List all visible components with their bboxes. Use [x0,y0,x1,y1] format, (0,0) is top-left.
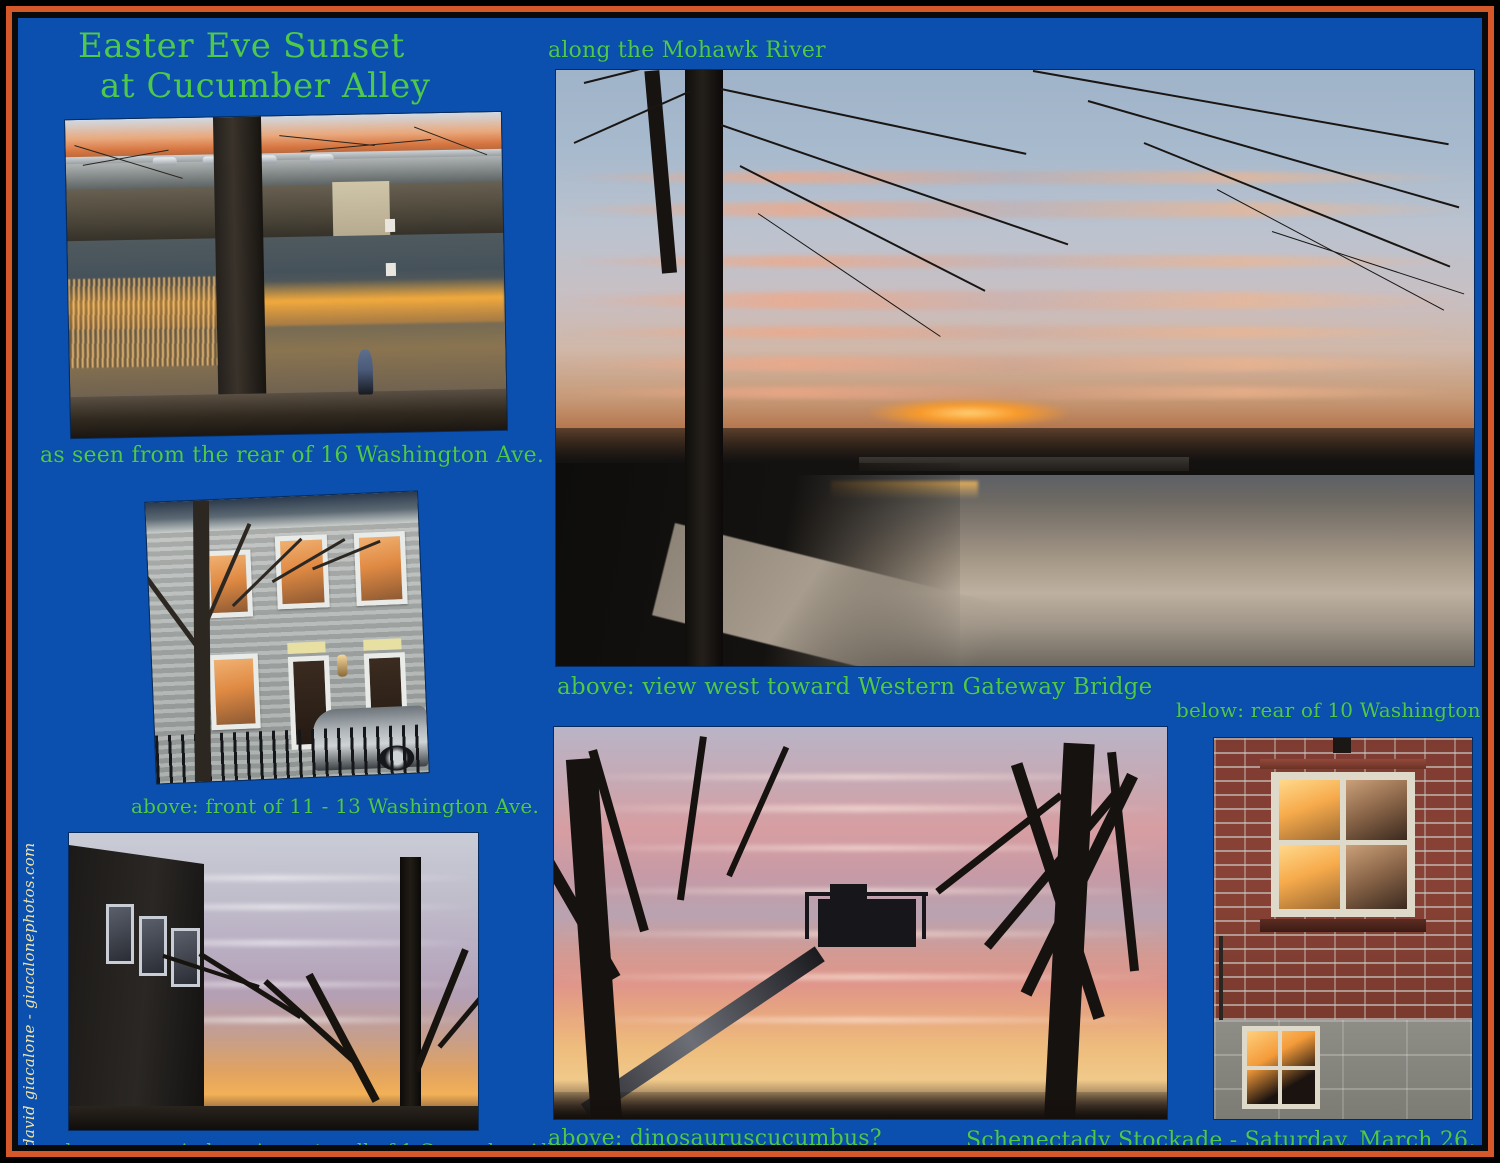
photo-east-wall [69,833,478,1130]
caption-footer: Schenectady Stockade - Saturday, March 2… [966,1128,1482,1145]
caption-view-west-gateway: above: view west toward Western Gateway … [557,674,1152,700]
photo-bucket-lift [554,727,1167,1119]
photographer-credit: david giacalone - giacalonephotos.com [20,848,38,1145]
caption-mohawk-river: along the Mohawk River [548,38,826,63]
caption-rear-16-washington: as seen from the rear of 16 Washington A… [40,443,544,468]
page-title: Easter Eve Sunset at Cucumber Alley [78,26,431,106]
caption-dinosauruscucumbus: above: dinosauruscucumbus? [548,1126,882,1145]
photo-collage-poster: Easter Eve Sunset at Cucumber Alley alon… [0,0,1500,1163]
photo-bridge-river [65,112,507,438]
title-line-1: Easter Eve Sunset [78,26,405,66]
caption-below-rear-10-washington: below: rear of 10 Washington Ave. [1176,698,1482,722]
photo-brick-windows [1214,738,1472,1119]
photo-grey-house [145,491,429,783]
caption-front-11-13-washington: above: front of 11 - 13 Washington Ave. [131,794,539,818]
caption-new-windows-east-wall: above:new windows in east wall of 1 Cucu… [54,1140,576,1145]
poster-canvas: Easter Eve Sunset at Cucumber Alley alon… [18,18,1482,1145]
photo-sunset-river [556,70,1474,666]
title-line-2: at Cucumber Alley [78,66,431,106]
